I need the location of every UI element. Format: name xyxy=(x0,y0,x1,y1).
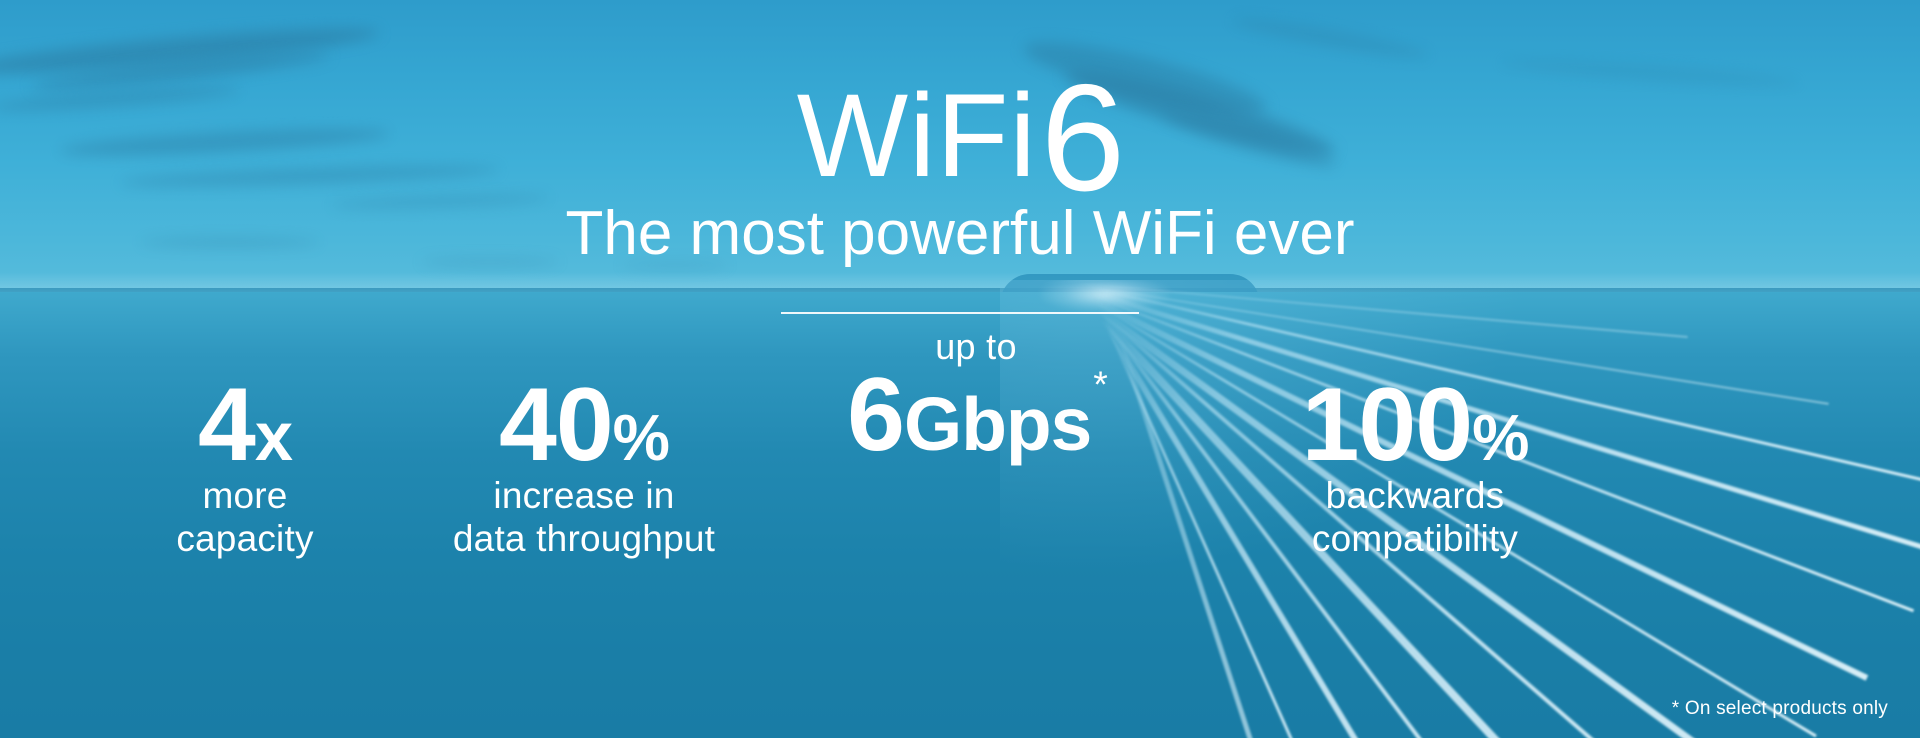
stat-label-line1: more xyxy=(202,475,287,516)
stat-unit: % xyxy=(1472,402,1528,474)
footnote: * On select products only xyxy=(1672,698,1888,720)
stat-value: 6Gbps* xyxy=(790,366,1162,465)
stat-block-throughput: 40% increase indata throughput xyxy=(400,376,768,561)
stat-block-compatibility: 100% backwardscompatibility xyxy=(1150,376,1680,561)
stat-label-line1: increase in xyxy=(493,475,674,516)
stat-value: 100% xyxy=(1150,376,1680,475)
page-title: WiFi6 xyxy=(0,48,1920,200)
stat-label-line2: data throughput xyxy=(453,518,715,559)
stat-label: morecapacity xyxy=(120,475,370,561)
stat-unit: x xyxy=(255,398,292,475)
divider xyxy=(781,312,1139,314)
footnote-marker: * xyxy=(1093,363,1107,405)
stat-label-line2: compatibility xyxy=(1312,518,1518,559)
stats-row: 4x morecapacity 40% increase indata thro… xyxy=(0,340,1920,680)
stat-label: increase indata throughput xyxy=(400,475,768,561)
stat-number: 6 xyxy=(847,357,904,473)
stat-number: 40 xyxy=(499,367,613,483)
stat-block-speed: up to 6Gbps* xyxy=(790,328,1162,465)
stat-number: 4 xyxy=(198,367,255,483)
stat-block-capacity: 4x morecapacity xyxy=(120,376,370,561)
subtitle: The most powerful WiFi ever xyxy=(0,198,1920,269)
stat-number: 100 xyxy=(1302,367,1473,483)
stat-label-line2: capacity xyxy=(176,518,313,559)
stat-unit: Gbps xyxy=(904,382,1091,466)
stat-label-line1: backwards xyxy=(1326,475,1505,516)
stat-value: 40% xyxy=(400,376,768,475)
wifi6-promo-banner: WiFi6 The most powerful WiFi ever 4x mor… xyxy=(0,0,1920,738)
stat-unit: % xyxy=(613,402,669,474)
stat-label: backwardscompatibility xyxy=(1150,475,1680,561)
stat-prefix: up to xyxy=(790,328,1162,366)
stat-value: 4x xyxy=(120,376,370,475)
brand-label: WiFi xyxy=(797,70,1037,202)
